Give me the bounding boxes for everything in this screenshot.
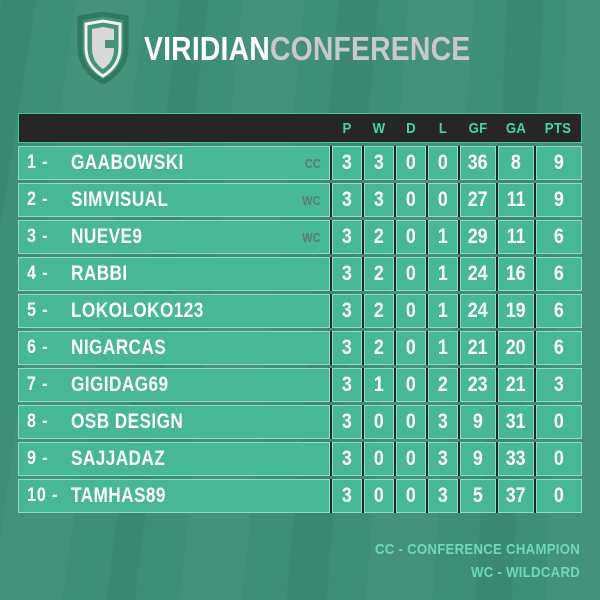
- team-name-cell[interactable]: 8 -OSB DESIGN: [18, 405, 330, 439]
- table-row[interactable]: 6 -NIGARCAS320121206: [18, 331, 582, 365]
- rank-label: 2 -: [27, 189, 64, 211]
- stat-value-gf: 5: [473, 484, 483, 508]
- stat-cell-l: 2: [428, 368, 458, 402]
- stat-value-gf: 21: [468, 336, 488, 360]
- stat-value-l: 1: [438, 299, 448, 323]
- stat-cell-w: 0: [364, 405, 394, 439]
- stat-cell-d: 0: [396, 442, 426, 476]
- stat-value-w: 2: [374, 336, 384, 360]
- stat-cell-p: 3: [332, 331, 362, 365]
- stat-cell-pts: 0: [536, 405, 582, 439]
- stat-value-l: 2: [438, 373, 448, 397]
- stat-cell-p: 3: [332, 146, 362, 180]
- stat-cell-p: 3: [332, 405, 362, 439]
- stat-value-w: 0: [374, 447, 384, 471]
- stat-cell-w: 1: [364, 368, 394, 402]
- stat-value-w: 0: [374, 484, 384, 508]
- stat-cell-w: 0: [364, 479, 394, 513]
- team-name: LOKOLOKO123: [71, 299, 277, 323]
- stat-cell-w: 2: [364, 294, 394, 328]
- standings-table: P W D L GF GA PTS 1 -GAABOWSKICC33003689…: [18, 113, 582, 513]
- stat-cell-w: 3: [364, 183, 394, 217]
- stat-value-w: 0: [374, 410, 384, 434]
- stat-value-gf: 36: [468, 151, 488, 175]
- rank-label: 6 -: [27, 337, 64, 359]
- stat-cell-p: 3: [332, 183, 362, 217]
- stat-cell-pts: 6: [536, 220, 582, 254]
- stat-cell-l: 3: [428, 479, 458, 513]
- page-header: VIRIDIANCONFERENCE: [0, 0, 600, 96]
- team-name-cell[interactable]: 10 -TAMHAS89: [18, 479, 330, 513]
- stat-value-pts: 0: [554, 410, 564, 434]
- stat-value-p: 3: [342, 484, 352, 508]
- stat-cell-ga: 31: [498, 405, 534, 439]
- table-row[interactable]: 10 -TAMHAS8930035370: [18, 479, 582, 513]
- stat-cell-p: 3: [332, 442, 362, 476]
- stat-cell-ga: 19: [498, 294, 534, 328]
- stat-value-ga: 11: [507, 225, 526, 249]
- stat-cell-pts: 9: [536, 146, 582, 180]
- stat-value-pts: 9: [554, 188, 564, 212]
- stat-value-l: 1: [438, 262, 448, 286]
- stat-cell-gf: 5: [460, 479, 496, 513]
- page-title: VIRIDIANCONFERENCE: [144, 32, 470, 65]
- stat-value-w: 1: [374, 373, 384, 397]
- stat-value-ga: 31: [506, 410, 526, 434]
- rank-label: 10 -: [27, 485, 64, 507]
- stat-value-d: 0: [406, 225, 416, 249]
- stat-value-l: 3: [438, 484, 448, 508]
- stat-value-w: 3: [374, 151, 384, 175]
- shield-icon: [76, 12, 130, 84]
- team-name-cell[interactable]: 4 -RABBI: [18, 257, 330, 291]
- stat-value-gf: 24: [468, 299, 488, 323]
- stat-cell-d: 0: [396, 146, 426, 180]
- stat-cell-l: 0: [428, 183, 458, 217]
- stat-value-d: 0: [406, 336, 416, 360]
- qualification-badge: WC: [302, 193, 326, 208]
- stat-value-gf: 29: [468, 225, 488, 249]
- stat-value-pts: 0: [554, 447, 564, 471]
- stat-value-ga: 16: [506, 262, 526, 286]
- stat-value-p: 3: [342, 225, 352, 249]
- stat-cell-w: 2: [364, 257, 394, 291]
- column-header-p: P: [333, 120, 361, 137]
- qualification-badge: CC: [305, 156, 327, 171]
- stat-value-l: 0: [438, 151, 448, 175]
- stat-cell-gf: 9: [460, 405, 496, 439]
- rank-label: 4 -: [27, 263, 64, 285]
- stat-cell-pts: 9: [536, 183, 582, 217]
- team-name-cell[interactable]: 3 -NUEVE9WC: [18, 220, 330, 254]
- rank-label: 1 -: [27, 152, 64, 174]
- stat-cell-w: 2: [364, 331, 394, 365]
- table-row[interactable]: 9 -SAJJADAZ30039330: [18, 442, 582, 476]
- stat-value-gf: 27: [468, 188, 488, 212]
- stat-cell-gf: 24: [460, 294, 496, 328]
- stat-value-d: 0: [406, 410, 416, 434]
- stat-cell-ga: 11: [498, 220, 534, 254]
- stat-cell-pts: 0: [536, 479, 582, 513]
- column-header-l: L: [429, 120, 457, 137]
- team-name-cell[interactable]: 9 -SAJJADAZ: [18, 442, 330, 476]
- title-secondary: CONFERENCE: [270, 30, 470, 67]
- stat-cell-pts: 3: [536, 368, 582, 402]
- stat-value-p: 3: [342, 299, 352, 323]
- rank-label: 3 -: [27, 226, 64, 248]
- stat-cell-l: 1: [428, 257, 458, 291]
- column-header-pts: PTS: [538, 120, 578, 137]
- stat-value-d: 0: [406, 299, 416, 323]
- stat-cell-d: 0: [396, 368, 426, 402]
- table-row[interactable]: 4 -RABBI320124166: [18, 257, 582, 291]
- stat-value-d: 0: [406, 373, 416, 397]
- stat-cell-l: 3: [428, 405, 458, 439]
- stat-cell-d: 0: [396, 405, 426, 439]
- stat-value-p: 3: [342, 336, 352, 360]
- legend: CC - CONFERENCE CHAMPION WC - WILDCARD: [347, 538, 580, 585]
- table-row[interactable]: 8 -OSB DESIGN30039310: [18, 405, 582, 439]
- stat-value-d: 0: [406, 188, 416, 212]
- rank-label: 7 -: [27, 374, 64, 396]
- team-name: GAABOWSKI: [71, 151, 261, 175]
- stat-cell-d: 0: [396, 257, 426, 291]
- team-name: OSB DESIGN: [71, 410, 277, 434]
- stat-value-l: 3: [438, 410, 448, 434]
- stat-value-l: 3: [438, 447, 448, 471]
- stat-value-d: 0: [406, 484, 416, 508]
- stat-cell-w: 3: [364, 146, 394, 180]
- stat-cell-w: 2: [364, 220, 394, 254]
- stat-value-ga: 37: [506, 484, 526, 508]
- stat-cell-p: 3: [332, 294, 362, 328]
- stat-value-pts: 0: [554, 484, 564, 508]
- table-row[interactable]: 2 -SIMVISUALWC330027119: [18, 183, 582, 217]
- stat-value-l: 0: [438, 188, 448, 212]
- stat-cell-p: 3: [332, 368, 362, 402]
- stat-value-ga: 33: [506, 447, 526, 471]
- table-row[interactable]: 7 -GIGIDAG69310223213: [18, 368, 582, 402]
- stat-value-d: 0: [406, 262, 416, 286]
- stat-cell-pts: 6: [536, 294, 582, 328]
- stat-cell-gf: 21: [460, 331, 496, 365]
- stat-cell-pts: 6: [536, 257, 582, 291]
- stat-cell-gf: 27: [460, 183, 496, 217]
- column-header-ga: GA: [499, 120, 532, 137]
- table-row[interactable]: 1 -GAABOWSKICC33003689: [18, 146, 582, 180]
- stat-value-d: 0: [406, 151, 416, 175]
- table-row[interactable]: 5 -LOKOLOKO123320124196: [18, 294, 582, 328]
- stat-cell-ga: 20: [498, 331, 534, 365]
- stat-cell-ga: 33: [498, 442, 534, 476]
- stat-value-p: 3: [342, 188, 352, 212]
- team-name-cell[interactable]: 5 -LOKOLOKO123: [18, 294, 330, 328]
- stat-cell-p: 3: [332, 479, 362, 513]
- team-name: GIGIDAG69: [71, 373, 277, 397]
- team-name-cell[interactable]: 7 -GIGIDAG69: [18, 368, 330, 402]
- stat-cell-l: 0: [428, 146, 458, 180]
- column-header-d: D: [397, 120, 425, 137]
- stat-value-w: 2: [374, 225, 384, 249]
- stat-cell-d: 0: [396, 479, 426, 513]
- stat-cell-w: 0: [364, 442, 394, 476]
- stat-value-gf: 9: [473, 447, 483, 471]
- stat-value-pts: 6: [554, 262, 564, 286]
- stat-cell-ga: 21: [498, 368, 534, 402]
- title-primary: VIRIDIAN: [144, 30, 270, 67]
- stat-value-pts: 6: [554, 336, 564, 360]
- stat-value-gf: 9: [473, 410, 483, 434]
- team-name-cell[interactable]: 1 -GAABOWSKICC: [18, 146, 330, 180]
- stat-cell-gf: 23: [460, 368, 496, 402]
- stat-cell-pts: 6: [536, 331, 582, 365]
- stat-cell-d: 0: [396, 331, 426, 365]
- stat-cell-gf: 24: [460, 257, 496, 291]
- team-name-cell[interactable]: 2 -SIMVISUALWC: [18, 183, 330, 217]
- legend-line-cc: CC - CONFERENCE CHAMPION: [375, 538, 580, 561]
- table-row[interactable]: 3 -NUEVE9WC320129116: [18, 220, 582, 254]
- stat-value-ga: 20: [506, 336, 526, 360]
- stat-value-pts: 9: [554, 151, 564, 175]
- stat-value-gf: 23: [468, 373, 488, 397]
- stat-value-p: 3: [342, 373, 352, 397]
- stat-value-w: 2: [374, 262, 384, 286]
- stat-cell-ga: 16: [498, 257, 534, 291]
- table-header-row: P W D L GF GA PTS: [18, 113, 582, 143]
- stat-cell-ga: 8: [498, 146, 534, 180]
- column-header-gf: GF: [461, 120, 494, 137]
- stat-value-ga: 8: [511, 151, 521, 175]
- stat-value-p: 3: [342, 262, 352, 286]
- stat-cell-l: 1: [428, 331, 458, 365]
- stat-cell-pts: 0: [536, 442, 582, 476]
- stat-value-p: 3: [342, 151, 352, 175]
- stat-value-gf: 24: [468, 262, 488, 286]
- stat-value-ga: 19: [506, 299, 526, 323]
- rank-label: 9 -: [27, 448, 64, 470]
- team-name: NUEVE9: [71, 225, 259, 249]
- stat-value-w: 3: [374, 188, 384, 212]
- column-header-w: W: [365, 120, 393, 137]
- stat-value-pts: 3: [554, 373, 564, 397]
- stat-cell-gf: 9: [460, 442, 496, 476]
- stat-cell-d: 0: [396, 183, 426, 217]
- stat-value-p: 3: [342, 410, 352, 434]
- rank-label: 8 -: [27, 411, 64, 433]
- stat-value-l: 1: [438, 336, 448, 360]
- stat-value-pts: 6: [554, 225, 564, 249]
- team-name: TAMHAS89: [71, 484, 277, 508]
- stat-value-pts: 6: [554, 299, 564, 323]
- legend-line-wc: WC - WILDCARD: [375, 561, 580, 584]
- team-name: NIGARCAS: [71, 336, 277, 360]
- stat-value-l: 1: [438, 225, 448, 249]
- team-name-cell[interactable]: 6 -NIGARCAS: [18, 331, 330, 365]
- stat-cell-l: 1: [428, 220, 458, 254]
- stat-cell-ga: 37: [498, 479, 534, 513]
- qualification-badge: WC: [302, 230, 326, 245]
- stat-value-d: 0: [406, 447, 416, 471]
- team-name: SAJJADAZ: [71, 447, 277, 471]
- stat-cell-l: 1: [428, 294, 458, 328]
- stat-value-p: 3: [342, 447, 352, 471]
- stat-cell-d: 0: [396, 294, 426, 328]
- table-body: 1 -GAABOWSKICC330036892 -SIMVISUALWC3300…: [18, 146, 582, 513]
- stat-cell-l: 3: [428, 442, 458, 476]
- rank-label: 5 -: [27, 300, 64, 322]
- stat-cell-gf: 29: [460, 220, 496, 254]
- stat-value-ga: 11: [507, 188, 526, 212]
- team-name: SIMVISUAL: [71, 188, 259, 212]
- stat-cell-gf: 36: [460, 146, 496, 180]
- stat-cell-p: 3: [332, 220, 362, 254]
- stat-value-ga: 21: [506, 373, 526, 397]
- stat-cell-ga: 11: [498, 183, 534, 217]
- stat-value-w: 2: [374, 299, 384, 323]
- stat-cell-p: 3: [332, 257, 362, 291]
- team-name: RABBI: [71, 262, 277, 286]
- stat-cell-d: 0: [396, 220, 426, 254]
